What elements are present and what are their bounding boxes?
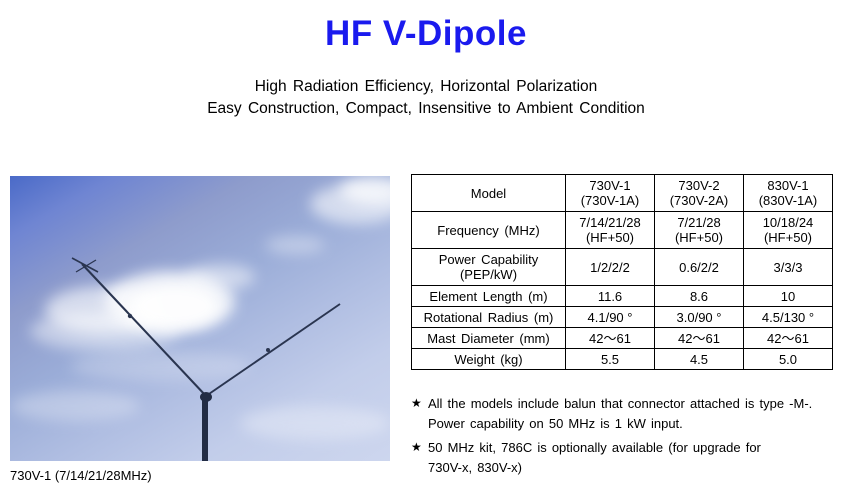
note-item-50mhz-kit: ★ 50 MHz kit, 786C is optionally availab… — [411, 438, 846, 477]
table-row: Model 730V-1 (730V-1A) 730V-2 (730V-2A) … — [412, 175, 833, 212]
cell-power-830v1: 3/3/3 — [744, 249, 833, 286]
cell-model-830v1: 830V-1 (830V-1A) — [744, 175, 833, 212]
product-photo — [10, 176, 390, 461]
cell-power-730v2: 0.6/2/2 — [655, 249, 744, 286]
note-line-2: 730V-x, 830V-x) — [428, 458, 846, 478]
cell-mast-diameter-730v2: 42〜61 — [655, 328, 744, 349]
cell-rotational-radius-730v1: 4.1/90 ° — [566, 307, 655, 328]
cell-model-730v2: 730V-2 (730V-2A) — [655, 175, 744, 212]
row-label-weight: Weight (kg) — [412, 349, 566, 370]
note-item-balun: ★ All the models include balun that conn… — [411, 394, 846, 433]
cell-model-730v1: 730V-1 (730V-1A) — [566, 175, 655, 212]
subtitle-line-1: High Radiation Efficiency, Horizontal Po… — [0, 76, 852, 98]
antenna-trap-left — [128, 314, 132, 318]
table-row: Element Length (m) 11.6 8.6 10 — [412, 286, 833, 307]
antenna-left-tip — [72, 258, 98, 272]
row-label-frequency: Frequency (MHz) — [412, 212, 566, 249]
notes-section: ★ All the models include balun that conn… — [411, 394, 846, 482]
cell-rotational-radius-830v1: 4.5/130 ° — [744, 307, 833, 328]
cell-element-length-730v1: 11.6 — [566, 286, 655, 307]
row-label-element-length: Element Length (m) — [412, 286, 566, 307]
cell-frequency-730v1: 7/14/21/28 (HF+50) — [566, 212, 655, 249]
note-line-1: 50 MHz kit, 786C is optionally available… — [428, 440, 761, 455]
table-row: Weight (kg) 5.5 4.5 5.0 — [412, 349, 833, 370]
antenna-illustration — [10, 176, 390, 461]
row-label-power-capability: Power Capability (PEP/kW) — [412, 249, 566, 286]
cell-element-length-730v2: 8.6 — [655, 286, 744, 307]
note-line-1: All the models include balun that connec… — [428, 396, 812, 411]
cell-frequency-830v1: 10/18/24 (HF+50) — [744, 212, 833, 249]
photo-caption: 730V-1 (7/14/21/28MHz) — [10, 468, 152, 483]
antenna-left-element — [82, 264, 206, 396]
sky-background — [10, 176, 390, 461]
cell-mast-diameter-830v1: 42〜61 — [744, 328, 833, 349]
cell-mast-diameter-730v1: 42〜61 — [566, 328, 655, 349]
antenna-trap-right — [266, 348, 270, 352]
table-row: Rotational Radius (m) 4.1/90 ° 3.0/90 ° … — [412, 307, 833, 328]
cell-frequency-730v2: 7/21/28 (HF+50) — [655, 212, 744, 249]
note-line-2: Power capability on 50 MHz is 1 kW input… — [428, 414, 846, 434]
cell-weight-730v2: 4.5 — [655, 349, 744, 370]
star-icon: ★ — [411, 438, 422, 458]
cell-rotational-radius-730v2: 3.0/90 ° — [655, 307, 744, 328]
star-icon: ★ — [411, 394, 422, 414]
page-title: HF V-Dipole — [0, 14, 852, 54]
row-label-mast-diameter: Mast Diameter (mm) — [412, 328, 566, 349]
cell-element-length-830v1: 10 — [744, 286, 833, 307]
antenna-mast — [202, 400, 208, 461]
antenna-right-element — [206, 304, 340, 396]
row-label-rotational-radius: Rotational Radius (m) — [412, 307, 566, 328]
table-row: Frequency (MHz) 7/14/21/28 (HF+50) 7/21/… — [412, 212, 833, 249]
page-subtitle: High Radiation Efficiency, Horizontal Po… — [0, 76, 852, 120]
cell-weight-730v1: 5.5 — [566, 349, 655, 370]
subtitle-line-2: Easy Construction, Compact, Insensitive … — [0, 98, 852, 120]
table-row: Power Capability (PEP/kW) 1/2/2/2 0.6/2/… — [412, 249, 833, 286]
table-row: Mast Diameter (mm) 42〜61 42〜61 42〜61 — [412, 328, 833, 349]
cell-weight-830v1: 5.0 — [744, 349, 833, 370]
specification-table: Model 730V-1 (730V-1A) 730V-2 (730V-2A) … — [411, 174, 833, 370]
cell-power-730v1: 1/2/2/2 — [566, 249, 655, 286]
row-label-model: Model — [412, 175, 566, 212]
